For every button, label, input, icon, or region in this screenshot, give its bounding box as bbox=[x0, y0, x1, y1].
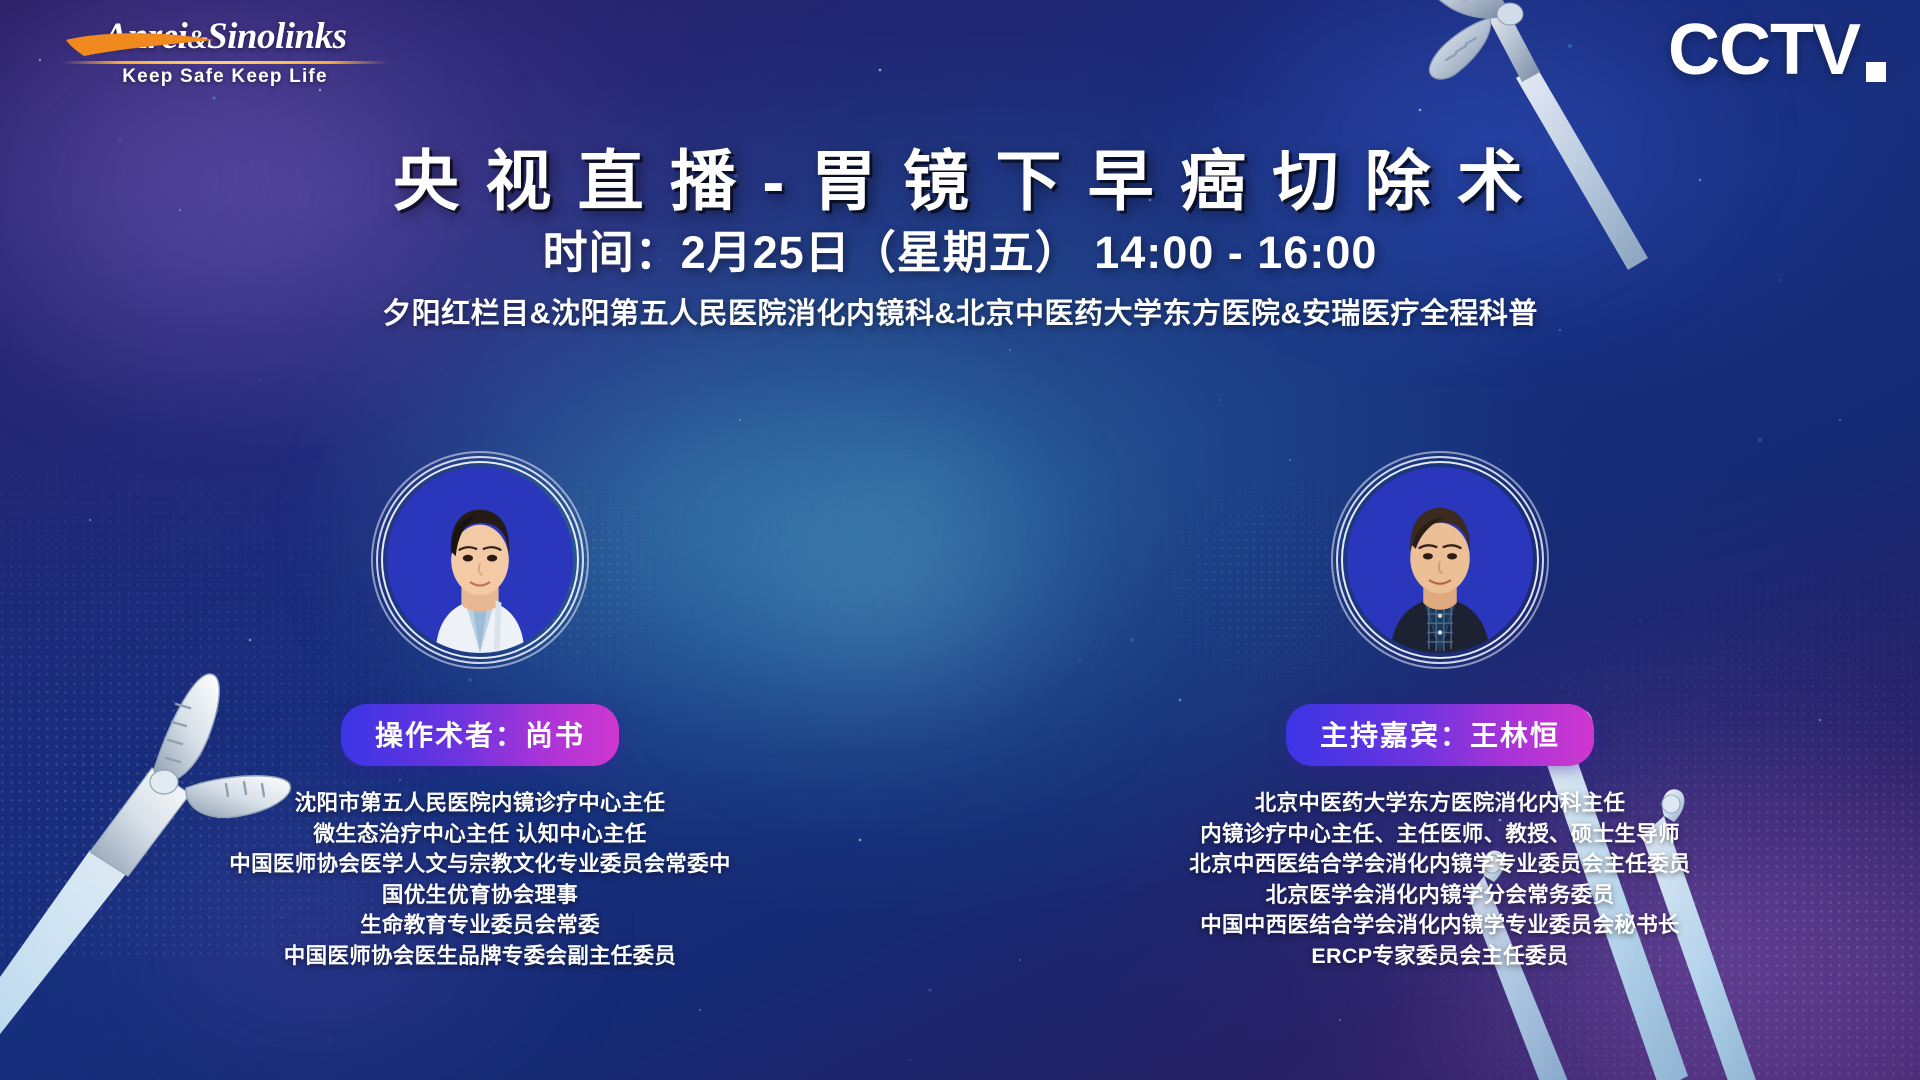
portrait-photo-operator bbox=[387, 467, 573, 653]
credential-line: 微生态治疗中心主任 认知中心主任 bbox=[130, 819, 830, 850]
speaker-role-badge: 主持嘉宾：王林恒 bbox=[1286, 704, 1594, 766]
credential-line: 中国医师协会医学人文与宗教文化专业委员会常委中 bbox=[130, 849, 830, 880]
credential-line: 内镜诊疗中心主任、主任医师、教授、硕士生导师 bbox=[1090, 819, 1790, 850]
portrait-photo-host bbox=[1347, 467, 1533, 653]
cctv-wordmark: CCTV bbox=[1668, 14, 1860, 86]
credential-line: 北京中医药大学东方医院消化内科主任 bbox=[1090, 788, 1790, 819]
avatar bbox=[380, 460, 580, 660]
brand-name-part2: Sinolinks bbox=[207, 16, 346, 57]
brand-logo: Anrei&Sinolinks Keep Safe Keep Life bbox=[60, 18, 390, 88]
page-title: 央 视 直 播 - 胃 镜 下 早 癌 切 除 术 bbox=[0, 128, 1920, 224]
brand-name-part1: Anrei bbox=[103, 16, 187, 57]
brand-divider-rule bbox=[62, 61, 388, 64]
credential-line: 中国中西医结合学会消化内镜学专业委员会秘书长 bbox=[1090, 910, 1790, 941]
avatar bbox=[1340, 460, 1540, 660]
credential-line: 国优生优育协会理事 bbox=[130, 880, 830, 911]
speaker-credentials-list: 沈阳市第五人民医院内镜诊疗中心主任 微生态治疗中心主任 认知中心主任 中国医师协… bbox=[130, 788, 830, 971]
portrait-illustration bbox=[1347, 467, 1533, 653]
credential-line: ERCP专家委员会主任委员 bbox=[1090, 941, 1790, 972]
brand-wordmark: Anrei&Sinolinks bbox=[60, 18, 390, 57]
cctv-dot-icon bbox=[1866, 62, 1886, 82]
credential-line: 沈阳市第五人民医院内镜诊疗中心主任 bbox=[130, 788, 830, 819]
credential-line: 中国医师协会医生品牌专委会副主任委员 bbox=[130, 941, 830, 972]
portrait-illustration bbox=[387, 467, 573, 653]
brand-tagline: Keep Safe Keep Life bbox=[60, 66, 390, 88]
brand-ampersand: & bbox=[187, 25, 207, 54]
speaker-card-host: 主持嘉宾：王林恒 北京中医药大学东方医院消化内科主任 内镜诊疗中心主任、主任医师… bbox=[1090, 460, 1790, 971]
speaker-credentials-list: 北京中医药大学东方医院消化内科主任 内镜诊疗中心主任、主任医师、教授、硕士生导师… bbox=[1090, 788, 1790, 971]
credential-line: 北京医学会消化内镜学分会常务委员 bbox=[1090, 880, 1790, 911]
credential-line: 北京中西医结合学会消化内镜学专业委员会主任委员 bbox=[1090, 849, 1790, 880]
credential-line: 生命教育专业委员会常委 bbox=[130, 910, 830, 941]
poster-canvas: Anrei&Sinolinks Keep Safe Keep Life CCTV… bbox=[0, 0, 1920, 1080]
cctv-logo: CCTV bbox=[1668, 14, 1886, 86]
speaker-card-operator: 操作术者：尚书 沈阳市第五人民医院内镜诊疗中心主任 微生态治疗中心主任 认知中心… bbox=[130, 460, 830, 971]
organizations-line: 夕阳红栏目&沈阳第五人民医院消化内镜科&北京中医药大学东方医院&安瑞医疗全程科普 bbox=[0, 290, 1920, 332]
broadcast-time: 时间：2月25日（星期五） 14:00 - 16:00 bbox=[0, 216, 1920, 281]
speaker-role-badge: 操作术者：尚书 bbox=[341, 704, 619, 766]
